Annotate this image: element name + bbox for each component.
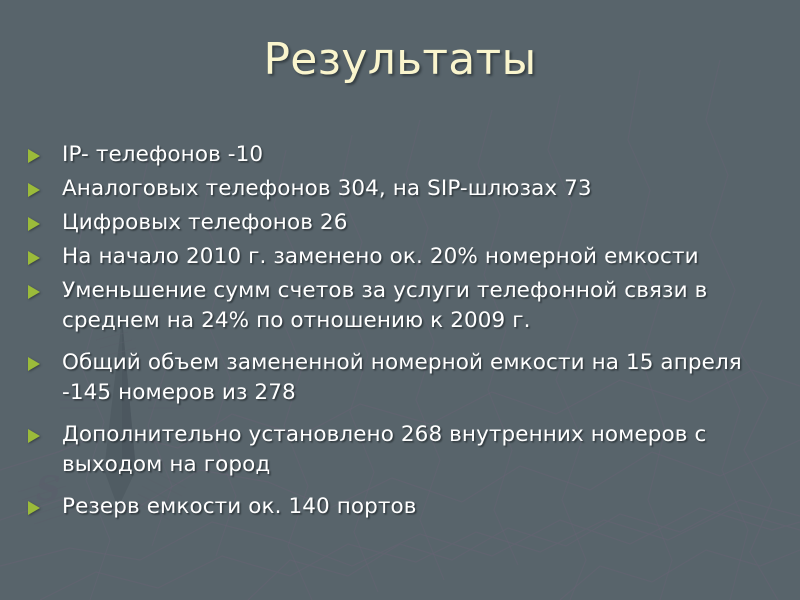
list-item: Аналоговых телефонов 304, на SIP-шлюзах … <box>22 174 790 204</box>
triangle-right-icon <box>28 149 40 163</box>
list-item-text: Дополнительно установлено 268 внутренних… <box>62 420 790 480</box>
triangle-right-icon <box>28 251 40 265</box>
list-item-text: Уменьшение сумм счетов за услуги телефон… <box>62 276 790 336</box>
list-item: На начало 2010 г. заменено ок. 20% номер… <box>22 242 790 272</box>
list-item-text: Резерв емкости ок. 140 портов <box>62 492 790 522</box>
bullet-list: IP- телефонов -10 Аналоговых телефонов 3… <box>22 140 790 526</box>
triangle-right-icon <box>28 429 40 443</box>
list-item-text: Цифровых телефонов 26 <box>62 208 790 238</box>
triangle-right-icon <box>28 285 40 299</box>
list-item-text: Общий объем замененной номерной емкости … <box>62 348 790 408</box>
list-item: Уменьшение сумм счетов за услуги телефон… <box>22 276 790 336</box>
triangle-right-icon <box>28 501 40 515</box>
list-item-text: На начало 2010 г. заменено ок. 20% номер… <box>62 242 790 272</box>
list-item-text: IP- телефонов -10 <box>62 140 790 170</box>
page-title-block: Результаты <box>0 34 800 86</box>
triangle-right-icon <box>28 217 40 231</box>
page-title: Результаты <box>263 34 536 86</box>
list-item-text: Аналоговых телефонов 304, на SIP-шлюзах … <box>62 174 790 204</box>
list-item: Резерв емкости ок. 140 портов <box>22 492 790 522</box>
list-item: Общий объем замененной номерной емкости … <box>22 348 790 408</box>
triangle-right-icon <box>28 357 40 371</box>
list-item: IP- телефонов -10 <box>22 140 790 170</box>
presentation-slide: S Результаты IP- телефонов -10 Аналоговы… <box>0 0 800 600</box>
list-item: Цифровых телефонов 26 <box>22 208 790 238</box>
triangle-right-icon <box>28 183 40 197</box>
list-item: Дополнительно установлено 268 внутренних… <box>22 420 790 480</box>
